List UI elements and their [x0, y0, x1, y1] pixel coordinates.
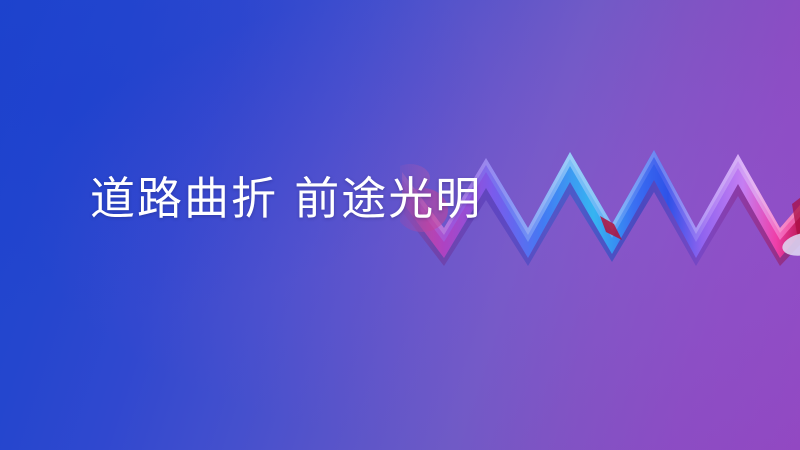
footer: 广东南方新媒体股份有限公司 Guangdong South New Media …	[0, 372, 800, 434]
page-title: 道路曲折 前途光明	[90, 176, 482, 221]
presentation-slide: 道路曲折 前途光明 广东南方新媒体股份有限公司 Guangdong South …	[0, 0, 800, 450]
